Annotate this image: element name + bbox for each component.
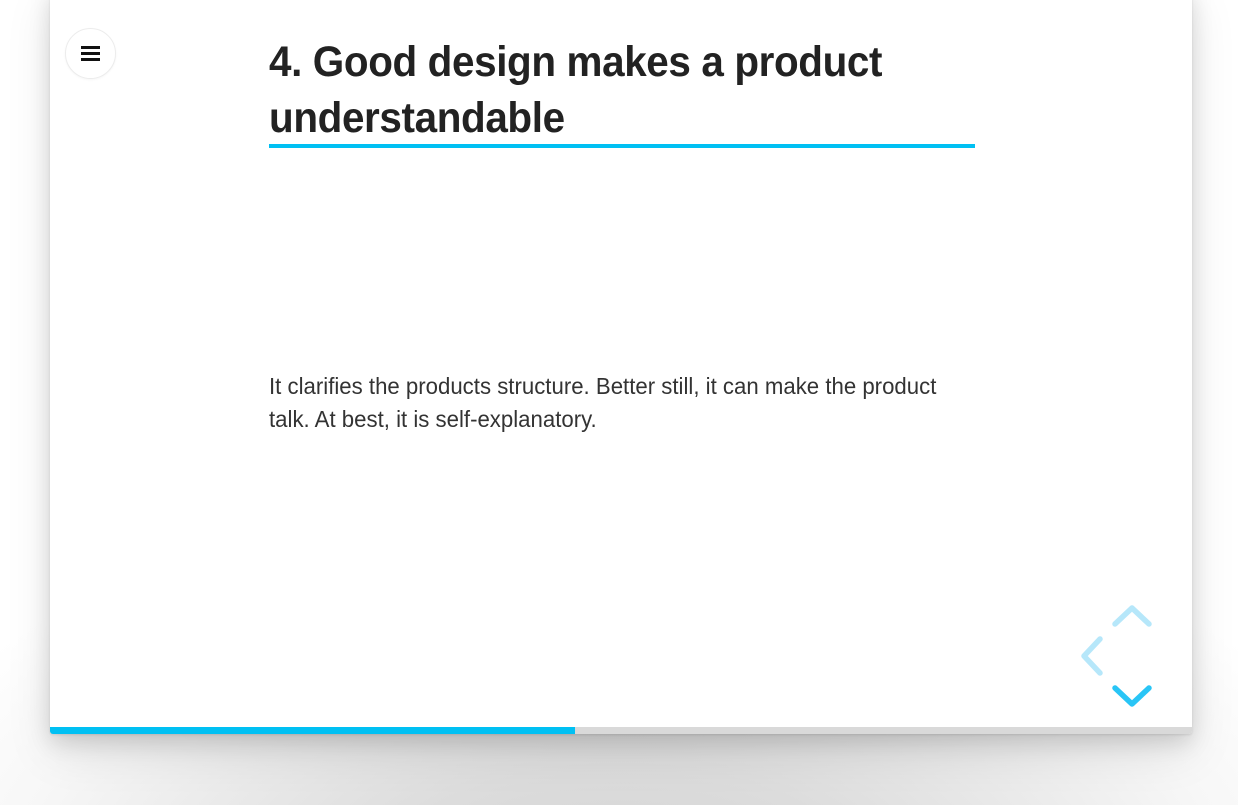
slide-navigation-pad: [1080, 604, 1184, 708]
slide-title: 4. Good design makes a product understan…: [269, 34, 941, 146]
slide-progress-fill: [50, 727, 575, 734]
slide-progress-track[interactable]: [50, 727, 1192, 734]
hamburger-menu-button[interactable]: [65, 28, 116, 79]
slide-body-text: It clarifies the products structure. Bet…: [269, 370, 945, 436]
hamburger-icon-bar-3: [81, 58, 100, 61]
slide-card: 4. Good design makes a product understan…: [50, 0, 1192, 734]
slide-content: 4. Good design makes a product understan…: [269, 0, 1029, 734]
title-underline-rule: [269, 144, 975, 148]
hamburger-icon-bar-1: [81, 46, 100, 49]
chevron-up-icon[interactable]: [1112, 604, 1152, 628]
hamburger-icon-bar-2: [81, 52, 100, 55]
presentation-viewport: 4. Good design makes a product understan…: [0, 0, 1238, 805]
chevron-left-icon[interactable]: [1080, 636, 1104, 676]
chevron-down-icon[interactable]: [1112, 684, 1152, 708]
slide-media-placeholder: [269, 162, 975, 358]
